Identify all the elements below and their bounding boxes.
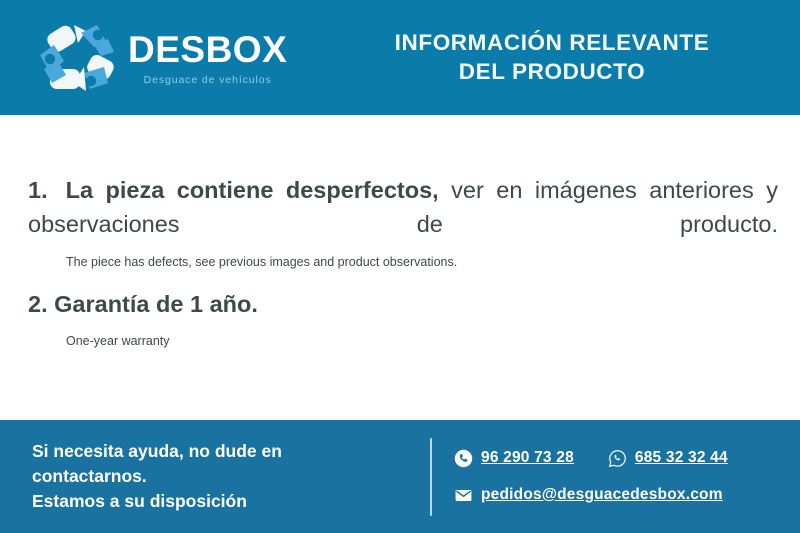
phone-contact[interactable]: 96 290 73 28 xyxy=(454,449,574,468)
recycle-wrench-icon xyxy=(34,19,120,97)
footer-contact-bar: Si necesita ayuda, no dude en contactarn… xyxy=(0,420,800,533)
email-contact[interactable]: pedidos@desguacedesbox.com xyxy=(454,486,723,505)
item-2-number: 2. xyxy=(28,291,48,317)
whatsapp-number: 685 32 32 44 xyxy=(635,449,728,467)
contact-details: 96 290 73 28 685 32 32 44 xyxy=(454,449,800,505)
help-message: Si necesita ayuda, no dude en contactarn… xyxy=(0,439,430,514)
brand-text: DESBOX Desguace de vehículos xyxy=(128,29,287,86)
brand-logo: DESBOX Desguace de vehículos xyxy=(0,19,330,97)
item-1-number: 1. xyxy=(28,177,48,203)
item-1-main-text: 1.La pieza contiene desperfectos, ver en… xyxy=(28,173,778,241)
contact-row-email: pedidos@desguacedesbox.com xyxy=(454,486,786,505)
page-title-line-1: INFORMACIÓN RELEVANTE xyxy=(330,29,774,58)
content-area: 1.La pieza contiene desperfectos, ver en… xyxy=(0,115,800,420)
footer-divider xyxy=(430,438,432,516)
help-message-line-3: Estamos a su disposición xyxy=(32,489,430,514)
help-message-line-1: Si necesita ayuda, no dude en xyxy=(32,439,430,464)
list-item: 1.La pieza contiene desperfectos, ver en… xyxy=(28,173,778,272)
list-item: 2. Garantía de 1 año. One-year warranty xyxy=(28,287,778,351)
item-2-main-text: 2. Garantía de 1 año. xyxy=(28,287,778,321)
contact-row-phones: 96 290 73 28 685 32 32 44 xyxy=(454,449,786,468)
envelope-icon xyxy=(454,486,473,505)
item-1-translation: The piece has defects, see previous imag… xyxy=(66,254,778,272)
page-title-line-2: DEL PRODUCTO xyxy=(330,58,774,87)
email-address: pedidos@desguacedesbox.com xyxy=(481,486,723,504)
whatsapp-contact[interactable]: 685 32 32 44 xyxy=(608,449,728,468)
help-message-line-2: contactarnos. xyxy=(32,464,430,489)
page-title: INFORMACIÓN RELEVANTE DEL PRODUCTO xyxy=(330,29,800,87)
header-banner: DESBOX Desguace de vehículos INFORMACIÓN… xyxy=(0,0,800,115)
brand-tagline: Desguace de vehículos xyxy=(128,75,287,86)
item-1-bold-text: La pieza contiene desperfectos, xyxy=(66,177,439,203)
brand-name: DESBOX xyxy=(128,31,287,68)
product-info-card: DESBOX Desguace de vehículos INFORMACIÓN… xyxy=(0,0,800,533)
phone-circle-icon xyxy=(454,449,473,468)
whatsapp-icon xyxy=(608,449,627,468)
item-2-bold-text: Garantía de 1 año. xyxy=(54,291,258,317)
phone-number: 96 290 73 28 xyxy=(481,449,574,467)
item-2-translation: One-year warranty xyxy=(66,333,778,351)
